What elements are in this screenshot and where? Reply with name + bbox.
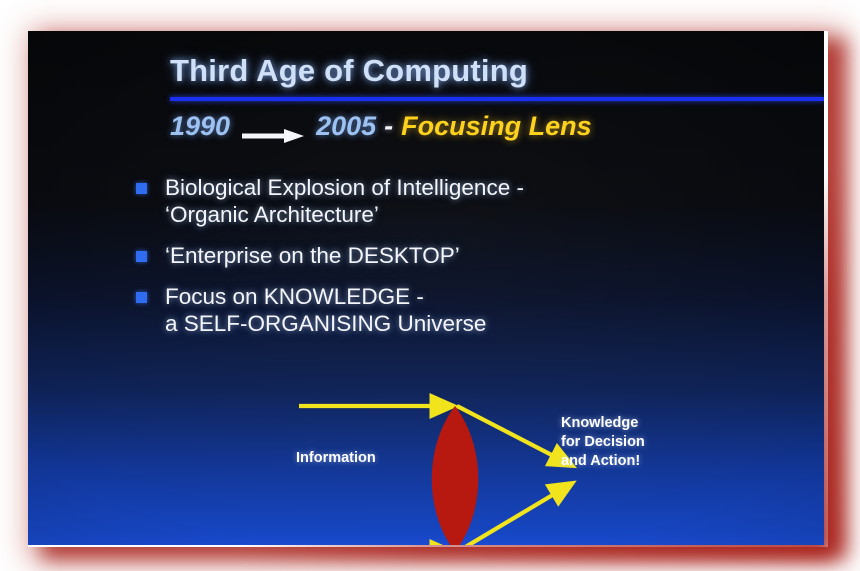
subtitle-to-year: 2005 bbox=[316, 111, 376, 142]
list-item: Focus on KNOWLEDGE - a SELF-ORGANISING U… bbox=[136, 283, 756, 337]
bullet-list: Biological Explosion of Intelligence - ‘… bbox=[136, 174, 756, 351]
subtitle-separator: - bbox=[384, 111, 393, 142]
bullet-text: Biological Explosion of Intelligence - ‘… bbox=[165, 174, 524, 228]
list-item: ‘Enterprise on the DESKTOP’ bbox=[136, 242, 756, 269]
biconvex-lens-shape bbox=[432, 406, 479, 545]
diagram-input-label: Information bbox=[296, 449, 376, 468]
bullet-text: ‘Enterprise on the DESKTOP’ bbox=[165, 242, 460, 269]
presentation-slide: Third Age of Computing 1990 2005 - Focus… bbox=[28, 31, 824, 545]
subtitle-emphasis: Focusing Lens bbox=[401, 111, 592, 142]
slide-subtitle: 1990 2005 - Focusing Lens bbox=[170, 111, 592, 142]
list-item: Biological Explosion of Intelligence - ‘… bbox=[136, 174, 756, 228]
blue-square-bullet-icon bbox=[136, 292, 147, 303]
subtitle-from-year: 1990 bbox=[170, 111, 230, 142]
bullet-text: Focus on KNOWLEDGE - a SELF-ORGANISING U… bbox=[165, 283, 486, 337]
right-arrow-icon bbox=[242, 120, 304, 136]
focusing-lens-diagram: Information Knowledge for Decision and A… bbox=[28, 349, 824, 545]
diagram-output-label: Knowledge for Decision and Action! bbox=[561, 414, 645, 471]
title-divider-rule bbox=[170, 97, 824, 101]
slide-title: Third Age of Computing bbox=[170, 53, 528, 89]
photo-frame: Third Age of Computing 1990 2005 - Focus… bbox=[0, 0, 860, 571]
blue-square-bullet-icon bbox=[136, 183, 147, 194]
blue-square-bullet-icon bbox=[136, 251, 147, 262]
